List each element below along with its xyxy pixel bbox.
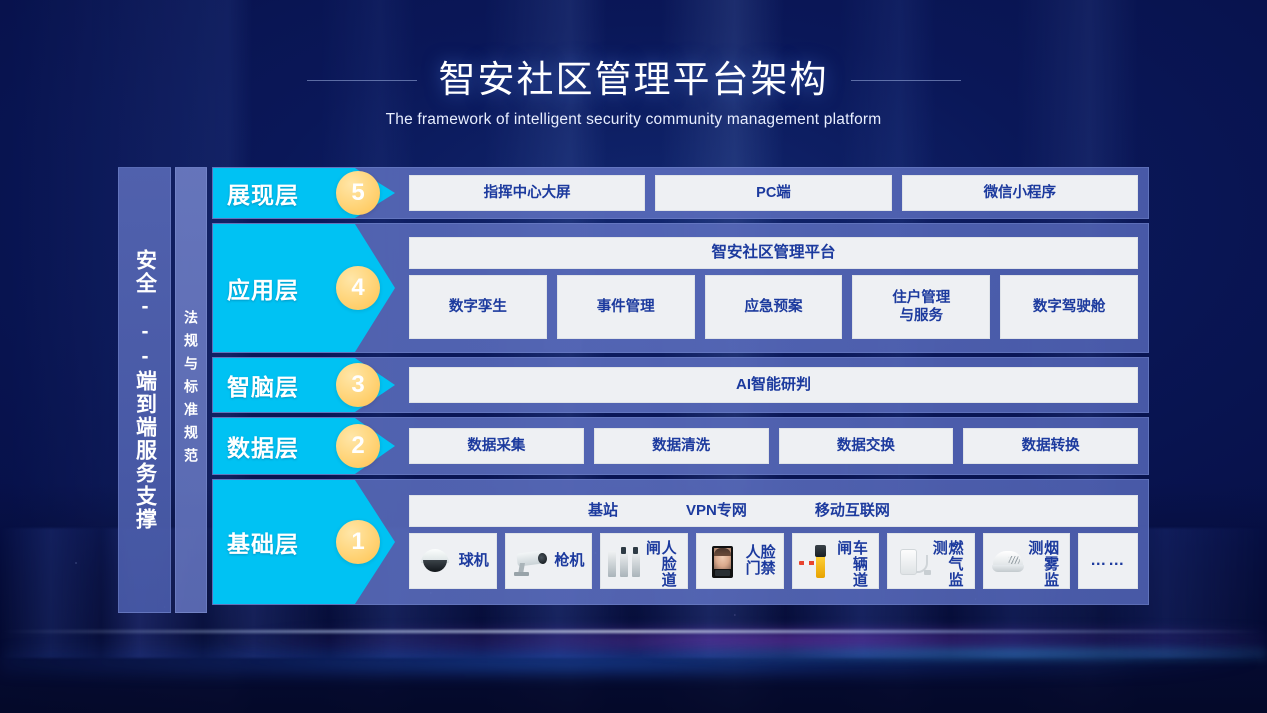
layer-name-infrastructure: 基础层 xyxy=(213,525,299,559)
device-face-access-terminal[interactable]: 人脸 门禁 xyxy=(696,533,784,589)
device-label-gas-detector: 燃气监测 xyxy=(931,540,963,588)
data-box-line: 数据采集 数据清洗 数据交换 数据转换 xyxy=(409,428,1138,464)
layer-name-data: 数据层 xyxy=(213,429,299,463)
presentation-box-line: 指挥中心大屏 PC端 微信小程序 xyxy=(409,175,1138,211)
side-column-support-label: 安全---端到端服务支撑 xyxy=(130,249,160,531)
layer-arrow-presentation: 展现层 5 xyxy=(213,168,395,218)
bullet-camera-icon xyxy=(512,541,548,581)
box-data-exchange[interactable]: 数据交换 xyxy=(779,428,954,464)
architecture-diagram: 安全---端到端服务支撑 法规与标准规范 展现层 5 指挥中心大屏 PC端 微信… xyxy=(118,167,1149,613)
device-label-bullet-camera: 枪机 xyxy=(554,553,584,569)
layer-row-infrastructure: 基础层 1 基站 VPN专网 移动互联网 xyxy=(212,479,1149,605)
application-module-line: 数字孪生 事件管理 应急预案 住户管理 与服务 数字驾驶舱 xyxy=(409,275,1138,339)
layer-arrow-infrastructure: 基础层 1 xyxy=(213,480,395,604)
layer-badge-1: 1 xyxy=(336,520,380,564)
box-ai-analysis[interactable]: AI智能研判 xyxy=(409,367,1138,403)
network-label-vpn: VPN专网 xyxy=(686,502,747,521)
box-network-row[interactable]: 基站 VPN专网 移动互联网 xyxy=(409,495,1138,527)
layer-arrow-brain: 智脑层 3 xyxy=(213,358,395,412)
dome-camera-icon xyxy=(417,541,453,581)
layer-row-application: 应用层 4 智安社区管理平台 数字孪生 事件管理 应急预案 住户管理 与服务 数… xyxy=(212,223,1149,353)
brain-box-line: AI智能研判 xyxy=(409,367,1138,403)
box-event-management[interactable]: 事件管理 xyxy=(557,275,695,339)
layer-badge-3: 3 xyxy=(336,363,380,407)
network-labels: 基站 VPN专网 移动互联网 xyxy=(410,502,1137,521)
box-community-platform[interactable]: 智安社区管理平台 xyxy=(409,237,1138,269)
box-digital-twin[interactable]: 数字孪生 xyxy=(409,275,547,339)
device-vehicle-barrier[interactable]: 车辆道闸 xyxy=(792,533,880,589)
box-data-cleaning[interactable]: 数据清洗 xyxy=(594,428,769,464)
face-access-terminal-icon xyxy=(704,541,740,581)
device-more-ellipsis[interactable]: …… xyxy=(1078,533,1138,589)
box-emergency-plan[interactable]: 应急预案 xyxy=(705,275,843,339)
layer-content-application: 智安社区管理平台 数字孪生 事件管理 应急预案 住户管理 与服务 数字驾驶舱 xyxy=(395,224,1148,352)
device-face-gate[interactable]: 人脸道闸 xyxy=(600,533,688,589)
layer-badge-4: 4 xyxy=(336,266,380,310)
box-pc-client[interactable]: PC端 xyxy=(655,175,891,211)
layer-badge-5: 5 xyxy=(336,171,380,215)
device-bullet-camera[interactable]: 枪机 xyxy=(505,533,593,589)
network-label-base-station: 基站 xyxy=(588,502,618,521)
device-label-vehicle-barrier: 车辆道闸 xyxy=(835,540,867,588)
application-platform-line: 智安社区管理平台 xyxy=(409,237,1138,269)
layer-row-brain: 智脑层 3 AI智能研判 xyxy=(212,357,1149,413)
box-data-collection[interactable]: 数据采集 xyxy=(409,428,584,464)
title-rule-right xyxy=(851,80,961,81)
face-gate-icon xyxy=(607,541,643,581)
title-row: 智安社区管理平台架构 xyxy=(0,58,1267,102)
layer-content-infrastructure: 基站 VPN专网 移动互联网 球机 xyxy=(395,480,1148,604)
title-rule-left xyxy=(307,80,417,81)
vehicle-barrier-icon xyxy=(799,541,835,581)
device-dome-camera[interactable]: 球机 xyxy=(409,533,497,589)
layer-content-presentation: 指挥中心大屏 PC端 微信小程序 xyxy=(395,168,1148,218)
box-resident-management[interactable]: 住户管理 与服务 xyxy=(852,275,990,339)
page-header: 智安社区管理平台架构 The framework of intelligent … xyxy=(0,58,1267,129)
device-label-face-gate: 人脸道闸 xyxy=(644,540,676,588)
device-gas-detector[interactable]: 燃气监测 xyxy=(887,533,975,589)
layer-arrow-application: 应用层 4 xyxy=(213,224,395,352)
box-wechat-miniprogram[interactable]: 微信小程序 xyxy=(902,175,1138,211)
layer-name-application: 应用层 xyxy=(213,271,299,305)
layer-arrow-data: 数据层 2 xyxy=(213,418,395,474)
box-command-center-screen[interactable]: 指挥中心大屏 xyxy=(409,175,645,211)
page-title: 智安社区管理平台架构 xyxy=(439,58,829,102)
network-box-line: 基站 VPN专网 移动互联网 xyxy=(409,495,1138,527)
device-box-line: 球机 枪机 人脸道闸 xyxy=(409,533,1138,589)
network-label-mobile-internet: 移动互联网 xyxy=(815,502,890,521)
side-column-standards: 法规与标准规范 xyxy=(175,167,207,613)
layer-rows: 展现层 5 指挥中心大屏 PC端 微信小程序 应用层 4 智安社区管理平台 xyxy=(212,167,1149,613)
smoke-detector-icon xyxy=(990,541,1026,581)
layer-content-brain: AI智能研判 xyxy=(395,358,1148,412)
side-column-standards-label: 法规与标准规范 xyxy=(181,310,201,471)
device-label-face-access: 人脸 门禁 xyxy=(746,545,776,577)
box-digital-cockpit[interactable]: 数字驾驶舱 xyxy=(1000,275,1138,339)
layer-name-brain: 智脑层 xyxy=(213,368,299,402)
page-subtitle: The framework of intelligent security co… xyxy=(0,111,1267,129)
layer-row-presentation: 展现层 5 指挥中心大屏 PC端 微信小程序 xyxy=(212,167,1149,219)
side-column-support: 安全---端到端服务支撑 xyxy=(118,167,171,613)
layer-content-data: 数据采集 数据清洗 数据交换 数据转换 xyxy=(395,418,1148,474)
box-data-conversion[interactable]: 数据转换 xyxy=(963,428,1138,464)
gas-detector-icon xyxy=(894,541,930,581)
device-label-smoke-detector: 烟雾监测 xyxy=(1027,540,1059,588)
device-label-dome-camera: 球机 xyxy=(459,553,489,569)
layer-row-data: 数据层 2 数据采集 数据清洗 数据交换 数据转换 xyxy=(212,417,1149,475)
device-smoke-detector[interactable]: 烟雾监测 xyxy=(983,533,1071,589)
layer-badge-2: 2 xyxy=(336,424,380,468)
layer-name-presentation: 展现层 xyxy=(213,176,299,210)
